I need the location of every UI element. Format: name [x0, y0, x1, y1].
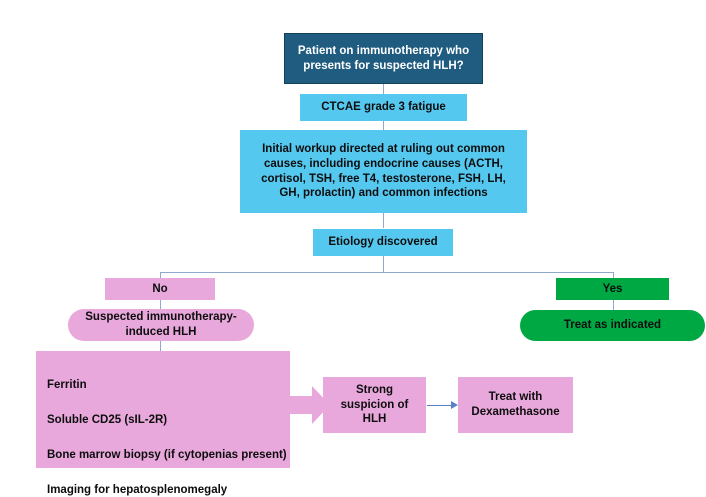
connector-workup-to-etiology: [383, 213, 384, 228]
flowchart-canvas: Patient on immunotherapy who presents fo…: [0, 0, 706, 497]
list-item: Bone marrow biopsy (if cytopenias presen…: [47, 447, 290, 464]
node-strong-suspicion[interactable]: Strong suspicion of HLH: [323, 377, 426, 433]
connector-etiology-stem: [383, 256, 384, 272]
node-branch-no[interactable]: No: [105, 278, 215, 300]
node-branch-yes[interactable]: Yes: [556, 278, 669, 300]
list-item: Soluble CD25 (sIL-2R): [47, 412, 290, 429]
list-item: Imaging for hepatosplenomegaly: [47, 482, 290, 497]
connector-no-to-suspected: [160, 300, 161, 309]
node-ctcae-fatigue[interactable]: CTCAE grade 3 fatigue: [300, 94, 467, 121]
node-start[interactable]: Patient on immunotherapy who presents fo…: [284, 33, 483, 84]
arrow-suspicion-to-treatment: [427, 401, 458, 410]
node-etiology-discovered[interactable]: Etiology discovered: [313, 229, 453, 256]
connector-suspected-to-tests: [160, 341, 161, 351]
node-suspected-hlh[interactable]: Suspected immunotherapy-induced HLH: [68, 309, 254, 341]
node-initial-workup[interactable]: Initial workup directed at ruling out co…: [240, 130, 527, 213]
list-item: Ferritin: [47, 377, 290, 394]
connector-split-bar: [160, 272, 614, 273]
node-treat-with-dexamethasone[interactable]: Treat with Dexamethasone: [458, 377, 573, 433]
node-workup-tests-list[interactable]: Ferritin Soluble CD25 (sIL-2R) Bone marr…: [36, 351, 290, 468]
connector-start-to-fatigue: [383, 84, 384, 94]
connector-yes-to-treat: [613, 300, 614, 310]
node-treat-as-indicated[interactable]: Treat as indicated: [520, 310, 705, 341]
connector-fatigue-to-workup: [383, 121, 384, 130]
